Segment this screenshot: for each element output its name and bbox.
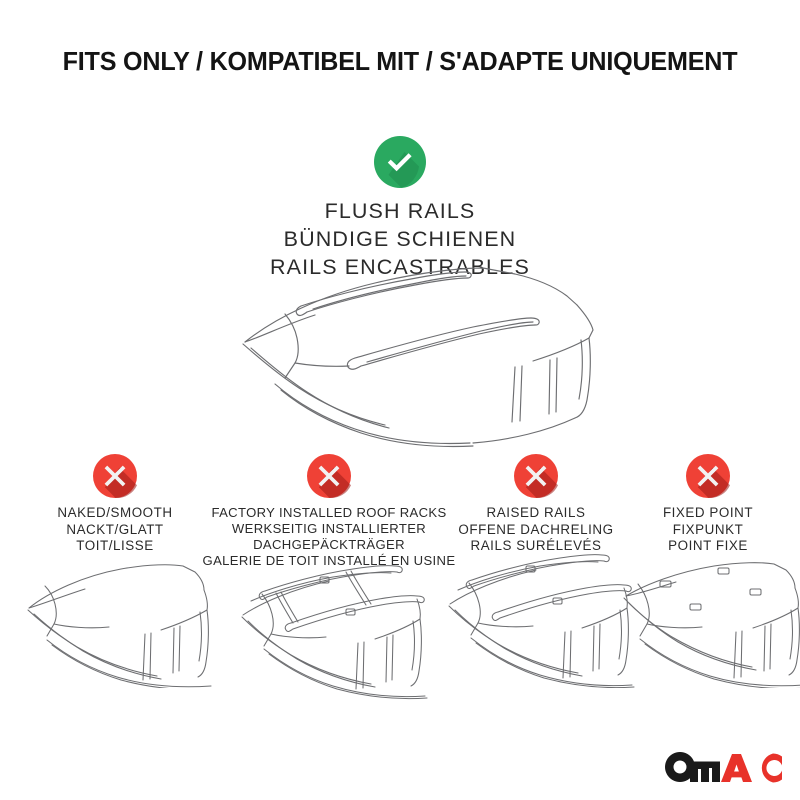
incompatible-item-naked-smooth: NAKED/SMOOTH NACKT/GLATT TOIT/LISSE: [6, 448, 224, 555]
item-label-de-2: DACHGEPÄCKTRÄGER: [198, 537, 460, 553]
car-roof-fixed-point-illustration: [608, 548, 800, 688]
incompatible-item-fixed-point: FIXED POINT FIXPUNKT POINT FIXE: [613, 448, 800, 555]
item-label-en: RAISED RAILS: [436, 505, 636, 522]
compatible-section: FLUSH RAILS BÜNDIGE SCHIENEN RAILS ENCAS…: [0, 136, 800, 282]
header: FITS ONLY / KOMPATIBEL MIT / S'ADAPTE UN…: [0, 48, 800, 77]
infographic-page: FITS ONLY / KOMPATIBEL MIT / S'ADAPTE UN…: [0, 0, 800, 800]
item-label-de: OFFENE DACHRELING: [436, 522, 636, 539]
incompatible-item-factory-racks: FACTORY INSTALLED ROOF RACKS WERKSEITIG …: [198, 448, 460, 570]
x-circle-icon: [307, 454, 351, 498]
page-title: FITS ONLY / KOMPATIBEL MIT / S'ADAPTE UN…: [6, 48, 794, 77]
incompatible-section: NAKED/SMOOTH NACKT/GLATT TOIT/LISSE: [0, 448, 800, 698]
car-roof-flush-rails-illustration: [215, 262, 615, 452]
car-roof-naked-illustration: [15, 548, 215, 688]
incompatible-item-raised-rails: RAISED RAILS OFFENE DACHRELING RAILS SUR…: [436, 448, 636, 555]
item-labels: FACTORY INSTALLED ROOF RACKS WERKSEITIG …: [198, 505, 460, 570]
x-circle-icon: [93, 454, 137, 498]
omac-logo: [664, 750, 784, 786]
item-label-en: NAKED/SMOOTH: [6, 505, 224, 522]
x-circle-icon: [686, 454, 730, 498]
compatible-label-de: BÜNDIGE SCHIENEN: [0, 226, 800, 254]
car-roof-raised-rails-illustration: [436, 548, 636, 688]
compatible-label-en: FLUSH RAILS: [0, 198, 800, 226]
item-label-en: FIXED POINT: [613, 505, 800, 522]
x-circle-icon: [514, 454, 558, 498]
item-label-de-1: WERKSEITIG INSTALLIERTER: [198, 521, 460, 537]
item-label-de: NACKT/GLATT: [6, 522, 224, 539]
car-roof-factory-racks-illustration: [229, 561, 429, 701]
item-label-en: FACTORY INSTALLED ROOF RACKS: [198, 505, 460, 521]
check-circle-icon: [374, 136, 426, 188]
item-label-de: FIXPUNKT: [613, 522, 800, 539]
